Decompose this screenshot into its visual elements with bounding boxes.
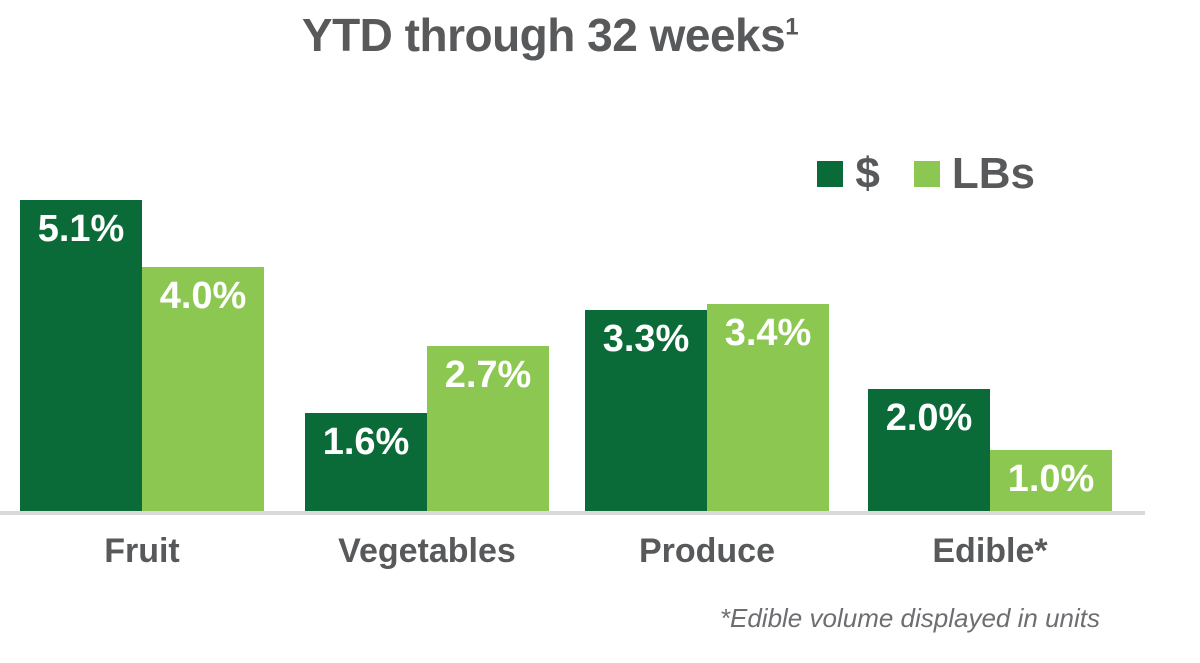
category-label-vegetables: Vegetables (277, 532, 577, 571)
bar-value-label: 2.7% (427, 354, 549, 398)
bar-value-label: 1.6% (305, 421, 427, 465)
bar-vegetables-pounds[interactable]: 2.7% (427, 346, 549, 511)
bar-value-label: 3.4% (707, 312, 829, 356)
bar-vegetables-dollars[interactable]: 1.6% (305, 413, 427, 511)
bar-value-label: 2.0% (868, 397, 990, 441)
bar-value-label: 1.0% (990, 458, 1112, 502)
bar-fruit-pounds[interactable]: 4.0% (142, 267, 264, 511)
bar-value-label: 5.1% (20, 208, 142, 252)
chart-page: YTD through 32 weeks1 $ LBs 5.1%4.0%Frui… (0, 0, 1200, 663)
bar-fruit-dollars[interactable]: 5.1% (20, 200, 142, 511)
category-label-edible: Edible* (840, 532, 1140, 571)
bar-edible-pounds[interactable]: 1.0% (990, 450, 1112, 511)
category-label-fruit: Fruit (0, 532, 292, 571)
bar-produce-dollars[interactable]: 3.3% (585, 310, 707, 511)
bar-edible-dollars[interactable]: 2.0% (868, 389, 990, 511)
bar-value-label: 3.3% (585, 318, 707, 362)
footnote: *Edible volume displayed in units (720, 603, 1100, 634)
category-label-produce: Produce (557, 532, 857, 571)
bar-value-label: 4.0% (142, 275, 264, 319)
bar-produce-pounds[interactable]: 3.4% (707, 304, 829, 511)
x-axis-line (0, 511, 1145, 515)
plot-area: 5.1%4.0%Fruit1.6%2.7%Vegetables3.3%3.4%P… (0, 0, 1200, 663)
